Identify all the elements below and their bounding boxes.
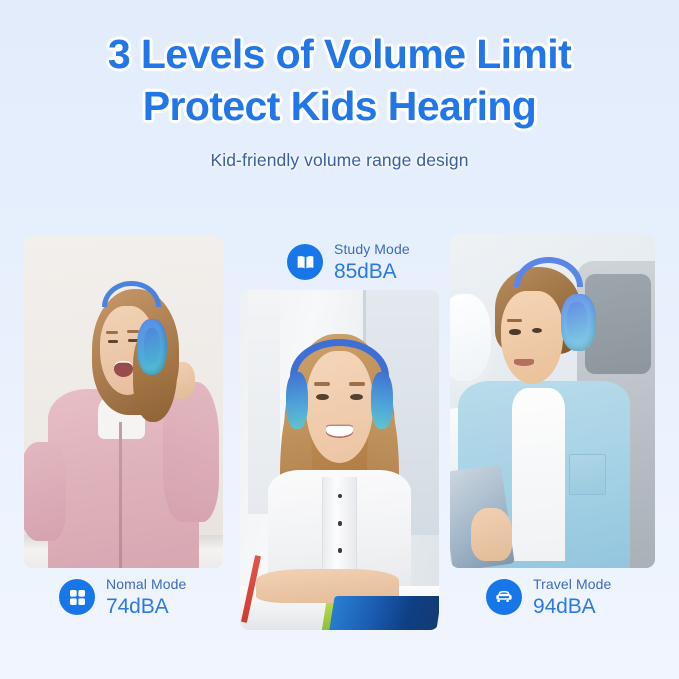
badge-label: Study Mode — [334, 242, 410, 256]
photo-boy-on-airplane — [450, 234, 655, 568]
badge-normal-mode: Nomal Mode 74dBA — [59, 577, 186, 617]
header: 3 Levels of Volume Limit Protect Kids He… — [0, 28, 679, 171]
grid-icon — [59, 579, 95, 615]
badge-text: Study Mode 85dBA — [334, 242, 410, 282]
blue-tablet — [329, 596, 439, 630]
shirt-pocket — [569, 454, 606, 494]
headphone-earcup-left — [286, 372, 308, 430]
eye-left — [509, 329, 520, 334]
hand-holding-tablet — [471, 508, 512, 561]
eyebrow-left — [314, 382, 330, 386]
badge-travel-mode: Travel Mode 94dBA — [486, 577, 611, 617]
eyebrow-right — [349, 382, 365, 386]
open-book-icon — [287, 244, 323, 280]
badge-value: 74dBA — [106, 596, 186, 617]
photo-panel-study-mode — [240, 290, 439, 630]
badge-label: Travel Mode — [533, 577, 611, 591]
page-title: 3 Levels of Volume Limit Protect Kids He… — [0, 28, 679, 133]
eye-left — [316, 394, 329, 401]
mouth — [514, 359, 535, 366]
headphone-earcup-inner — [567, 302, 588, 339]
hoodie-zipper — [119, 422, 122, 568]
headphone-earcup-right — [371, 372, 393, 430]
eyebrow-left — [106, 331, 118, 335]
photo-panel-normal-mode — [24, 236, 223, 568]
badge-value: 94dBA — [533, 596, 611, 617]
eye-left — [108, 340, 118, 343]
headphone-earcup-inner — [144, 328, 160, 365]
photo-panel-travel-mode — [450, 234, 655, 568]
badge-label: Nomal Mode — [106, 577, 186, 591]
white-tee — [512, 388, 565, 562]
car-icon — [486, 579, 522, 615]
page-subtitle: Kid-friendly volume range design — [0, 150, 679, 171]
photo-girl-dancing — [24, 236, 223, 568]
blouse-button — [338, 521, 342, 525]
badge-value: 85dBA — [334, 261, 410, 282]
photo-girl-studying — [240, 290, 439, 630]
headline-line-1: 3 Levels of Volume Limit — [0, 28, 679, 80]
eyebrow — [507, 319, 521, 322]
blouse-button — [338, 548, 342, 552]
airplane-window — [450, 294, 491, 381]
badge-text: Nomal Mode 74dBA — [106, 577, 186, 617]
badge-text: Travel Mode 94dBA — [533, 577, 611, 617]
badge-study-mode: Study Mode 85dBA — [287, 242, 410, 282]
left-arm — [24, 442, 66, 542]
headline-line-2: Protect Kids Hearing — [0, 80, 679, 132]
face — [501, 291, 563, 385]
